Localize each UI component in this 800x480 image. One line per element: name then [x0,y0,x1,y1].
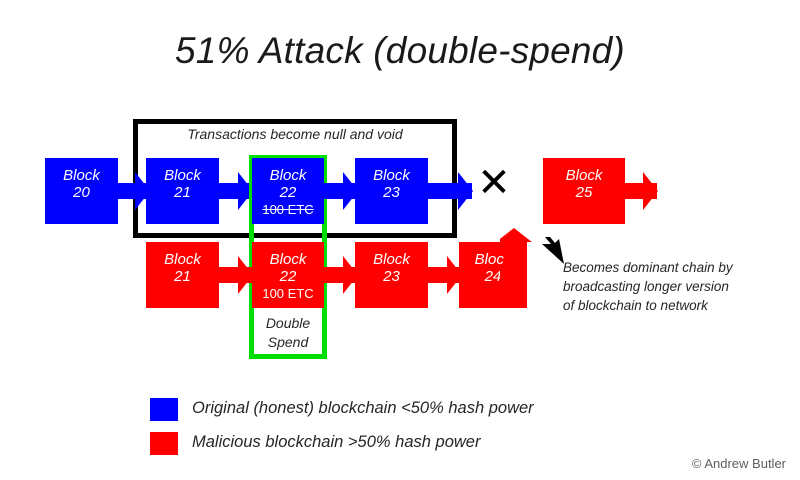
arrow-head [458,172,473,210]
null-and-void-label: Transactions become null and void [133,126,457,142]
block-label: Block [252,167,324,184]
block-label: Block [45,167,118,184]
arrow-honest-21-22 [219,172,252,210]
arrow-malicious-22-23 [324,256,357,294]
block-honest-23: Block 23 [355,158,428,224]
block-malicious-21: Block 21 [146,242,219,308]
annotation-pointer-icon [534,236,566,268]
page-title: 51% Attack (double-spend) [0,30,800,72]
arrow-honest-22-23 [324,172,357,210]
arrow-malicious-25-next [625,172,657,210]
block-label: Block [355,251,428,268]
block-malicious-23: Block 23 [355,242,428,308]
block-honest-20: Block 20 [45,158,118,224]
block-number: 25 [543,184,625,201]
credit-text: © Andrew Butler [692,456,786,471]
block-number: 21 [146,184,219,201]
block-number: 22 [252,184,324,201]
block-label: Block [146,167,219,184]
legend-label-honest: Original (honest) blockchain <50% hash p… [192,399,534,418]
annotation-line-1: Becomes dominant chain by [563,258,799,277]
block-number: 22 [252,268,324,285]
legend-swatch-malicious [150,432,178,455]
double-spend-caption: Double Spend [249,314,327,352]
diagram-canvas: 51% Attack (double-spend) Transactions b… [0,0,800,480]
block-label: Block [146,251,219,268]
double-spend-caption-line-1: Double [249,314,327,333]
chain-broken-x-icon: ✕ [477,163,511,203]
block-label: Block [355,167,428,184]
block-malicious-22: Block 22 100 ETC [252,242,324,308]
block-amount-voided: 100 ETC [252,201,324,218]
block-label: Block [252,251,324,268]
block-number: 23 [355,268,428,285]
block-number: 23 [355,184,428,201]
double-spend-caption-line-2: Spend [249,333,327,352]
legend-label-malicious: Malicious blockchain >50% hash power [192,433,480,452]
arrow-head [238,256,253,294]
block-number: 21 [146,268,219,285]
arrow-honest-20-21 [118,172,149,210]
arrow-malicious-21-22 [219,256,252,294]
arrow-head [643,172,658,210]
block-label: Block [543,167,625,184]
block-number: 20 [45,184,118,201]
block-honest-22: Block 22 100 ETC [252,158,324,224]
block-honest-21: Block 21 [146,158,219,224]
annotation-text: Becomes dominant chain by broadcasting l… [563,258,799,315]
arrow-honest-23-end [428,172,472,210]
annotation-line-3: of blockchain to network [563,296,799,315]
annotation-line-2: broadcasting longer version [563,277,799,296]
legend-swatch-honest [150,398,178,421]
arrow-malicious-23-24 [428,256,461,294]
block-malicious-25: Block 25 [543,158,625,224]
block-amount: 100 ETC [252,285,324,302]
